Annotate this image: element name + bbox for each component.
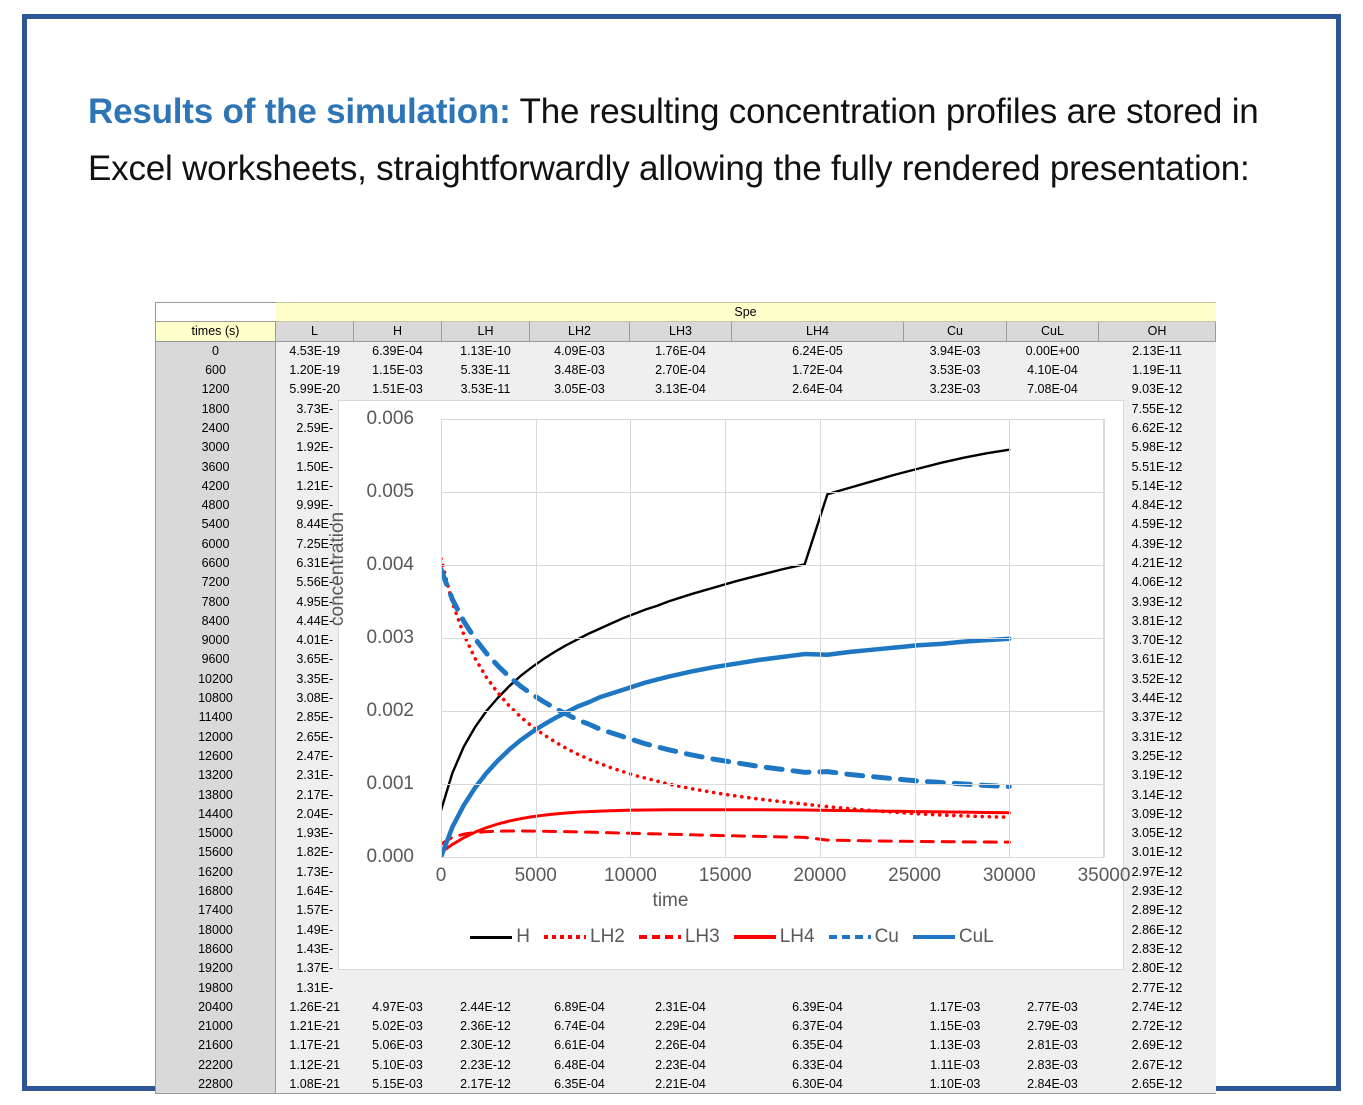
- sheet-cell-h[interactable]: 5.15E-03: [354, 1074, 442, 1093]
- sheet-cell-time[interactable]: 13800: [156, 785, 276, 804]
- sheet-cell-cu[interactable]: 3.23E-03: [904, 380, 1007, 399]
- legend-swatch-icon: [734, 935, 776, 939]
- sheet-banner-blank-cell[interactable]: [156, 303, 276, 322]
- sheet-cell-h[interactable]: 5.06E-03: [354, 1036, 442, 1055]
- legend-label: H: [516, 926, 530, 948]
- chart-y-tick-label: 0.002: [318, 700, 414, 722]
- sheet-cell-h[interactable]: 5.10E-03: [354, 1055, 442, 1074]
- legend-label: CuL: [959, 926, 994, 948]
- chart-gridline-vertical: [725, 419, 726, 857]
- legend-item-cul[interactable]: CuL: [913, 926, 994, 948]
- sheet-cell-time[interactable]: 600: [156, 360, 276, 379]
- sheet-cell-lh4[interactable]: [732, 978, 904, 997]
- sheet-cell-time[interactable]: 9000: [156, 631, 276, 650]
- sheet-cell-cu[interactable]: 1.13E-03: [904, 1036, 1007, 1055]
- sheet-cell-cul[interactable]: 7.08E-04: [1007, 380, 1099, 399]
- sheet-cell-lh4[interactable]: 6.33E-04: [732, 1055, 904, 1074]
- chart-gridline-horizontal: [441, 638, 1104, 639]
- table-row[interactable]: 222001.12E-215.10E-032.23E-126.48E-042.2…: [156, 1055, 1216, 1074]
- legend-label: LH4: [780, 926, 815, 948]
- sheet-banner-label[interactable]: Spe: [276, 303, 1216, 322]
- chart-x-tick-label: 20000: [765, 865, 875, 887]
- sheet-cell-time[interactable]: 4200: [156, 476, 276, 495]
- sheet-cell-lh2[interactable]: 6.61E-04: [530, 1036, 630, 1055]
- sheet-cell-time[interactable]: 19800: [156, 978, 276, 997]
- page-title: Results of the simulation: The resulting…: [88, 84, 1288, 197]
- sheet-cell-lh2[interactable]: 3.05E-03: [530, 380, 630, 399]
- table-row[interactable]: 210001.21E-215.02E-032.36E-126.74E-042.2…: [156, 1016, 1216, 1035]
- sheet-cell-lh3[interactable]: 2.29E-04: [630, 1016, 732, 1035]
- sheet-cell-lh[interactable]: [442, 978, 530, 997]
- chart-gridline-horizontal: [441, 492, 1104, 493]
- legend-item-h[interactable]: H: [470, 926, 530, 948]
- sheet-cell-time[interactable]: 9600: [156, 650, 276, 669]
- sheet-cell-time[interactable]: 7200: [156, 573, 276, 592]
- sheet-cell-l[interactable]: 4.53E-19: [276, 341, 354, 360]
- sheet-cell-l[interactable]: 1.31E-: [276, 978, 354, 997]
- sheet-cell-lh2[interactable]: 3.48E-03: [530, 360, 630, 379]
- sheet-cell-l[interactable]: 5.99E-20: [276, 380, 354, 399]
- sheet-cell-cul[interactable]: 4.10E-04: [1007, 360, 1099, 379]
- sheet-cell-time[interactable]: 18600: [156, 939, 276, 958]
- sheet-cell-cul[interactable]: [1007, 978, 1099, 997]
- sheet-cell-time[interactable]: 15000: [156, 824, 276, 843]
- sheet-cell-lh3[interactable]: [630, 978, 732, 997]
- sheet-cell-time[interactable]: 10800: [156, 688, 276, 707]
- sheet-cell-cu[interactable]: 3.53E-03: [904, 360, 1007, 379]
- chart-x-tick-label: 35000: [1049, 865, 1159, 887]
- sheet-cell-lh4[interactable]: 6.39E-04: [732, 997, 904, 1016]
- chart-gridline-vertical: [630, 419, 631, 857]
- chart-y-axis-label: concentration: [327, 512, 349, 626]
- legend-swatch-icon: [639, 935, 681, 939]
- slide: Results of the simulation: The resulting…: [0, 0, 1363, 1105]
- chart-gridline-horizontal: [441, 419, 1104, 420]
- sheet-header-times[interactable]: times (s): [156, 322, 276, 341]
- chart-y-tick-label: 0.006: [318, 408, 414, 430]
- chart-x-tick-label: 10000: [575, 865, 685, 887]
- sheet-cell-l[interactable]: 1.21E-21: [276, 1016, 354, 1035]
- sheet-cell-cu[interactable]: 1.17E-03: [904, 997, 1007, 1016]
- chart-x-tick-label: 30000: [954, 865, 1064, 887]
- sheet-cell-time[interactable]: 7800: [156, 592, 276, 611]
- sheet-cell-time[interactable]: 5400: [156, 515, 276, 534]
- sheet-cell-oh[interactable]: 2.74E-12: [1099, 997, 1216, 1016]
- chart-plot-area: 0.0000.0010.0020.0030.0040.0050.00605000…: [441, 419, 1104, 857]
- legend-label: Cu: [875, 926, 899, 948]
- sheet-header-cu[interactable]: Cu: [904, 322, 1007, 341]
- table-row[interactable]: 12005.99E-201.51E-033.53E-113.05E-033.13…: [156, 380, 1216, 399]
- sheet-header-row: times (s)LHLHLH2LH3LH4CuCuLOH: [156, 322, 1216, 341]
- chart-gridline-vertical: [536, 419, 537, 857]
- chart-x-tick-label: 15000: [670, 865, 780, 887]
- sheet-cell-l[interactable]: 1.12E-21: [276, 1055, 354, 1074]
- sheet-cell-cul[interactable]: 0.00E+00: [1007, 341, 1099, 360]
- sheet-cell-lh2[interactable]: 4.09E-03: [530, 341, 630, 360]
- sheet-cell-time[interactable]: 12000: [156, 727, 276, 746]
- legend-swatch-icon: [544, 935, 586, 939]
- legend-swatch-icon: [470, 936, 512, 939]
- sheet-cell-lh3[interactable]: 2.31E-04: [630, 997, 732, 1016]
- sheet-cell-time[interactable]: 14400: [156, 804, 276, 823]
- legend-swatch-icon: [913, 935, 955, 939]
- sheet-cell-time[interactable]: 11400: [156, 708, 276, 727]
- sheet-cell-h[interactable]: 1.51E-03: [354, 380, 442, 399]
- sheet-cell-cul[interactable]: 2.77E-03: [1007, 997, 1099, 1016]
- sheet-cell-lh4[interactable]: 2.64E-04: [732, 380, 904, 399]
- sheet-cell-lh4[interactable]: 6.24E-05: [732, 341, 904, 360]
- sheet-cell-h[interactable]: 6.39E-04: [354, 341, 442, 360]
- sheet-cell-lh[interactable]: 2.36E-12: [442, 1016, 530, 1035]
- sheet-cell-cu[interactable]: 1.11E-03: [904, 1055, 1007, 1074]
- sheet-cell-cu[interactable]: 3.94E-03: [904, 341, 1007, 360]
- sheet-cell-cul[interactable]: 2.84E-03: [1007, 1074, 1099, 1093]
- legend-label: LH3: [685, 926, 720, 948]
- sheet-cell-time[interactable]: 21600: [156, 1036, 276, 1055]
- sheet-cell-lh4[interactable]: 6.35E-04: [732, 1036, 904, 1055]
- legend-item-lh4[interactable]: LH4: [734, 926, 815, 948]
- sheet-cell-lh[interactable]: 2.23E-12: [442, 1055, 530, 1074]
- sheet-header-lh[interactable]: LH: [442, 322, 530, 341]
- sheet-cell-time[interactable]: 21000: [156, 1016, 276, 1035]
- sheet-cell-lh2[interactable]: [530, 978, 630, 997]
- sheet-cell-cu[interactable]: 1.15E-03: [904, 1016, 1007, 1035]
- sheet-cell-time[interactable]: 15600: [156, 843, 276, 862]
- legend-item-lh2[interactable]: LH2: [544, 926, 625, 948]
- sheet-cell-time[interactable]: 2400: [156, 418, 276, 437]
- concentration-chart[interactable]: 0.0000.0010.0020.0030.0040.0050.00605000…: [338, 400, 1124, 970]
- sheet-cell-time[interactable]: 22800: [156, 1074, 276, 1093]
- sheet-cell-lh4[interactable]: 6.37E-04: [732, 1016, 904, 1035]
- legend-item-cu[interactable]: Cu: [829, 926, 899, 948]
- sheet-header-l[interactable]: L: [276, 322, 354, 341]
- chart-x-tick-label: 0: [386, 865, 496, 887]
- sheet-cell-h[interactable]: [354, 978, 442, 997]
- sheet-cell-cul[interactable]: 2.81E-03: [1007, 1036, 1099, 1055]
- chart-y-tick-label: 0.001: [318, 773, 414, 795]
- sheet-cell-time[interactable]: 10200: [156, 669, 276, 688]
- chart-axis-line: [1103, 419, 1104, 857]
- sheet-cell-l[interactable]: 1.26E-21: [276, 997, 354, 1016]
- table-row[interactable]: 204001.26E-214.97E-032.44E-126.89E-042.3…: [156, 997, 1216, 1016]
- title-emphasis: Results of the simulation:: [88, 92, 511, 131]
- sheet-cell-lh[interactable]: 5.33E-11: [442, 360, 530, 379]
- sheet-cell-lh2[interactable]: 6.48E-04: [530, 1055, 630, 1074]
- sheet-cell-lh2[interactable]: 6.74E-04: [530, 1016, 630, 1035]
- sheet-cell-oh[interactable]: 2.69E-12: [1099, 1036, 1216, 1055]
- chart-legend[interactable]: HLH2LH3LH4CuCuL: [339, 926, 1125, 948]
- chart-y-tick-label: 0.003: [318, 627, 414, 649]
- sheet-cell-h[interactable]: 4.97E-03: [354, 997, 442, 1016]
- sheet-cell-lh2[interactable]: 6.35E-04: [530, 1074, 630, 1093]
- sheet-header-lh3[interactable]: LH3: [630, 322, 732, 341]
- chart-x-axis-label: time: [339, 890, 1002, 912]
- legend-item-lh3[interactable]: LH3: [639, 926, 720, 948]
- sheet-cell-time[interactable]: 1800: [156, 399, 276, 418]
- chart-gridline-vertical: [820, 419, 821, 857]
- chart-gridline-vertical: [1104, 419, 1105, 857]
- sheet-cell-lh4[interactable]: 6.30E-04: [732, 1074, 904, 1093]
- sheet-cell-time[interactable]: 16200: [156, 862, 276, 881]
- sheet-cell-l[interactable]: 1.17E-21: [276, 1036, 354, 1055]
- chart-x-tick-label: 5000: [481, 865, 591, 887]
- sheet-cell-lh3[interactable]: 2.23E-04: [630, 1055, 732, 1074]
- sheet-cell-time[interactable]: 0: [156, 341, 276, 360]
- sheet-cell-time[interactable]: 3000: [156, 438, 276, 457]
- sheet-cell-cu[interactable]: 1.10E-03: [904, 1074, 1007, 1093]
- sheet-cell-time[interactable]: 1200: [156, 380, 276, 399]
- sheet-header-lh4[interactable]: LH4: [732, 322, 904, 341]
- sheet-cell-oh[interactable]: 2.77E-12: [1099, 978, 1216, 997]
- sheet-cell-oh[interactable]: 2.13E-11: [1099, 341, 1216, 360]
- legend-label: LH2: [590, 926, 625, 948]
- sheet-cell-time[interactable]: 6600: [156, 553, 276, 572]
- sheet-cell-lh[interactable]: 2.44E-12: [442, 997, 530, 1016]
- chart-y-tick-label: 0.005: [318, 481, 414, 503]
- sheet-cell-lh3[interactable]: 2.21E-04: [630, 1074, 732, 1093]
- sheet-cell-h[interactable]: 5.02E-03: [354, 1016, 442, 1035]
- sheet-header-lh2[interactable]: LH2: [530, 322, 630, 341]
- chart-axis-line: [441, 419, 442, 857]
- sheet-cell-oh[interactable]: 9.03E-12: [1099, 380, 1216, 399]
- sheet-cell-lh3[interactable]: 2.26E-04: [630, 1036, 732, 1055]
- sheet-cell-time[interactable]: 19200: [156, 959, 276, 978]
- chart-gridline-horizontal: [441, 784, 1104, 785]
- sheet-cell-l[interactable]: 1.08E-21: [276, 1074, 354, 1093]
- sheet-cell-time[interactable]: 22200: [156, 1055, 276, 1074]
- sheet-cell-time[interactable]: 20400: [156, 997, 276, 1016]
- sheet-cell-lh2[interactable]: 6.89E-04: [530, 997, 630, 1016]
- sheet-cell-oh[interactable]: 1.19E-11: [1099, 360, 1216, 379]
- sheet-cell-time[interactable]: 6000: [156, 534, 276, 553]
- chart-gridline-horizontal: [441, 565, 1104, 566]
- sheet-cell-cul[interactable]: 2.79E-03: [1007, 1016, 1099, 1035]
- sheet-cell-time[interactable]: 12600: [156, 746, 276, 765]
- sheet-cell-lh3[interactable]: 2.70E-04: [630, 360, 732, 379]
- sheet-cell-lh[interactable]: 3.53E-11: [442, 380, 530, 399]
- chart-gridline-vertical: [1009, 419, 1010, 857]
- legend-swatch-icon: [829, 935, 871, 939]
- sheet-header-oh[interactable]: OH: [1099, 322, 1216, 341]
- sheet-cell-oh[interactable]: 2.72E-12: [1099, 1016, 1216, 1035]
- chart-gridline-horizontal: [441, 711, 1104, 712]
- sheet-cell-lh3[interactable]: 3.13E-04: [630, 380, 732, 399]
- sheet-cell-lh3[interactable]: 1.76E-04: [630, 341, 732, 360]
- sheet-cell-lh[interactable]: 1.13E-10: [442, 341, 530, 360]
- chart-gridline-vertical: [915, 419, 916, 857]
- sheet-cell-oh[interactable]: 2.67E-12: [1099, 1055, 1216, 1074]
- sheet-banner-row: Spe: [156, 303, 1216, 322]
- sheet-cell-lh4[interactable]: 1.72E-04: [732, 360, 904, 379]
- sheet-cell-time[interactable]: 3600: [156, 457, 276, 476]
- chart-gridline-horizontal: [441, 857, 1104, 858]
- sheet-cell-lh[interactable]: 2.17E-12: [442, 1074, 530, 1093]
- sheet-cell-time[interactable]: 8400: [156, 611, 276, 630]
- sheet-cell-time[interactable]: 17400: [156, 901, 276, 920]
- table-row[interactable]: 216001.17E-215.06E-032.30E-126.61E-042.2…: [156, 1036, 1216, 1055]
- sheet-cell-time[interactable]: 16800: [156, 881, 276, 900]
- sheet-cell-h[interactable]: 1.15E-03: [354, 360, 442, 379]
- chart-x-tick-label: 25000: [860, 865, 970, 887]
- table-row[interactable]: 04.53E-196.39E-041.13E-104.09E-031.76E-0…: [156, 341, 1216, 360]
- sheet-cell-time[interactable]: 18000: [156, 920, 276, 939]
- sheet-cell-l[interactable]: 1.20E-19: [276, 360, 354, 379]
- table-row[interactable]: 228001.08E-215.15E-032.17E-126.35E-042.2…: [156, 1074, 1216, 1093]
- sheet-cell-cul[interactable]: 2.83E-03: [1007, 1055, 1099, 1074]
- sheet-cell-time[interactable]: 4800: [156, 495, 276, 514]
- table-row[interactable]: 6001.20E-191.15E-035.33E-113.48E-032.70E…: [156, 360, 1216, 379]
- table-row[interactable]: 198001.31E-2.77E-12: [156, 978, 1216, 997]
- sheet-cell-cu[interactable]: [904, 978, 1007, 997]
- sheet-header-h[interactable]: H: [354, 322, 442, 341]
- sheet-cell-oh[interactable]: 2.65E-12: [1099, 1074, 1216, 1093]
- sheet-cell-time[interactable]: 13200: [156, 766, 276, 785]
- sheet-cell-lh[interactable]: 2.30E-12: [442, 1036, 530, 1055]
- sheet-header-cul[interactable]: CuL: [1007, 322, 1099, 341]
